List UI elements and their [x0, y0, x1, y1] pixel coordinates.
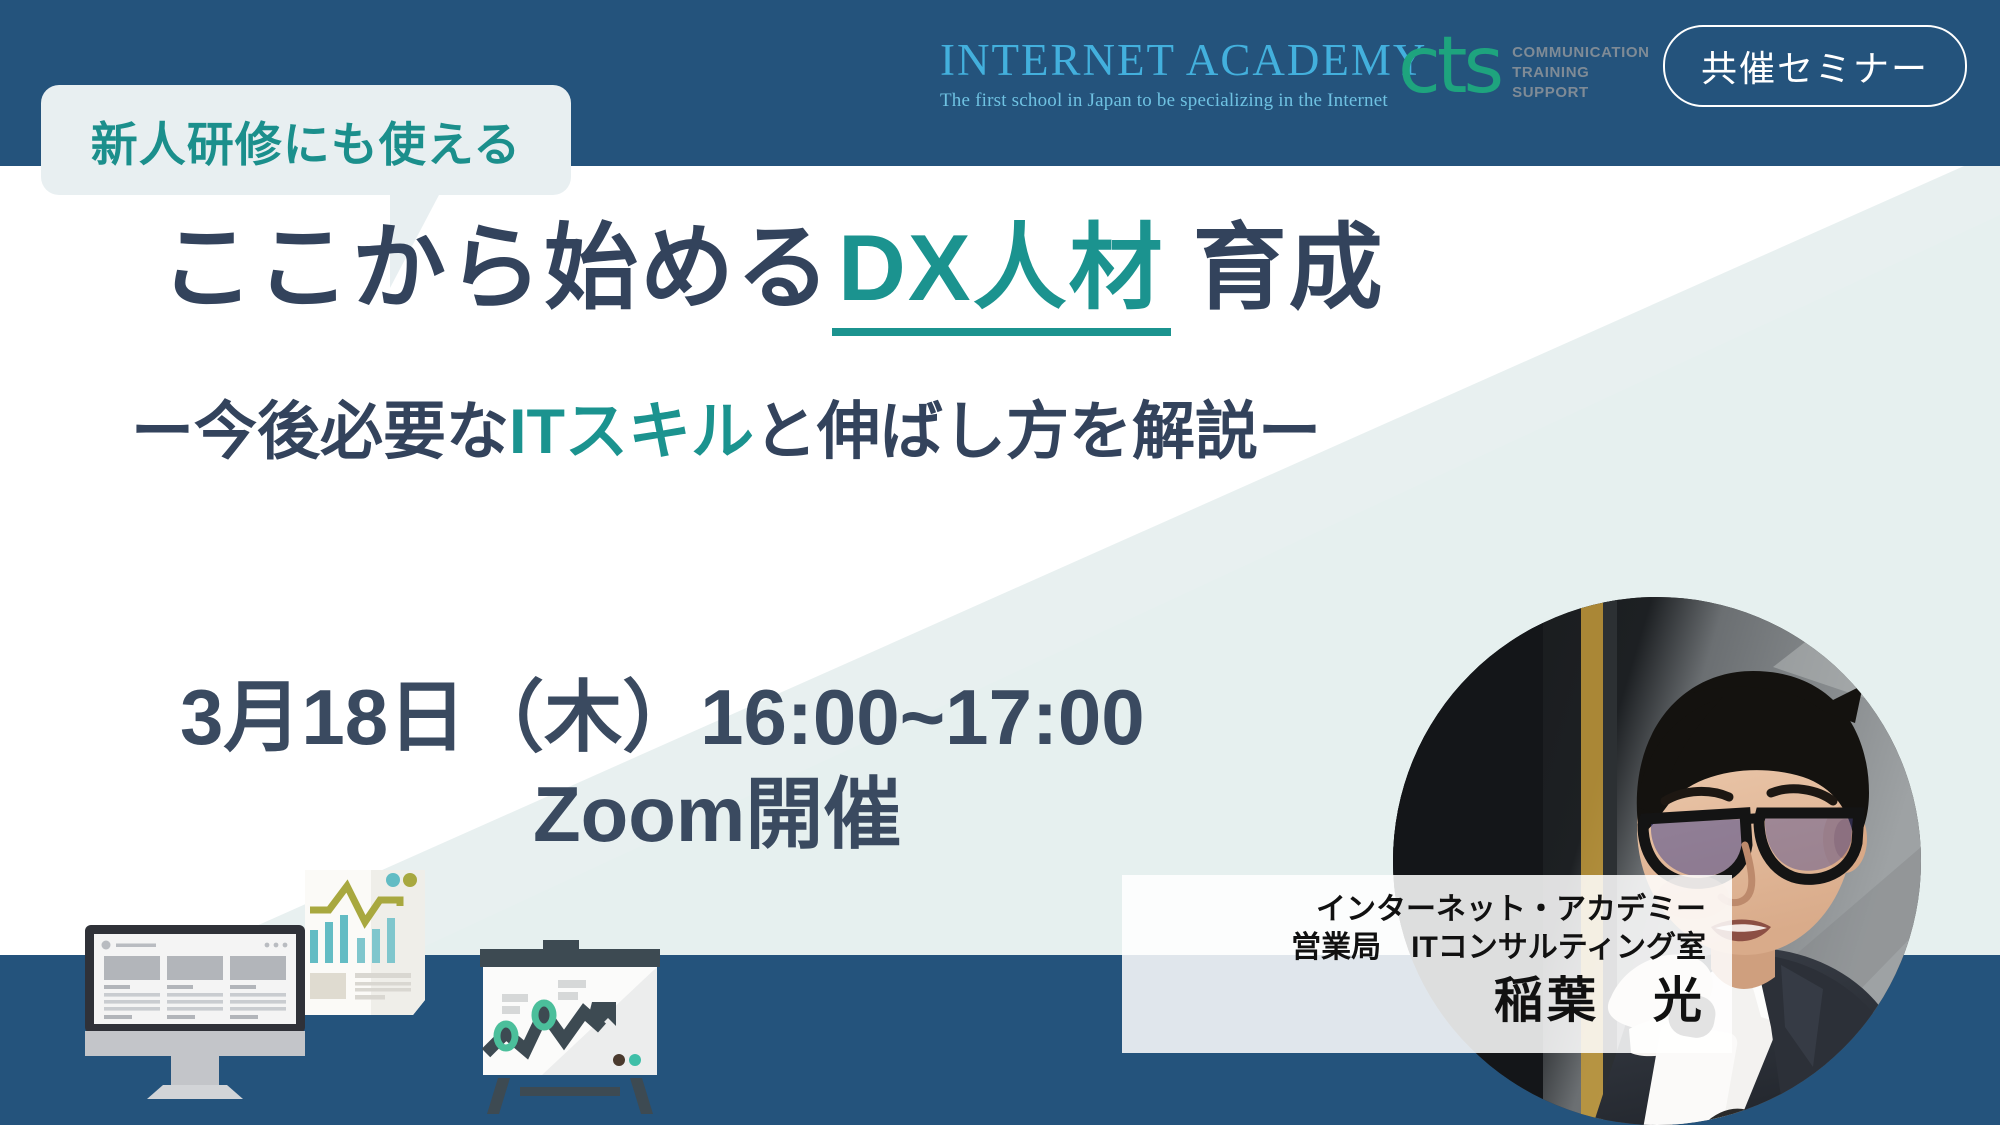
page-subtitle: ー今後必要なITスキルと伸ばし方を解説ー	[131, 381, 1321, 472]
seminar-banner: INTERNET ACADEMY The first school in Jap…	[0, 0, 2000, 1125]
internet-academy-name: INTERNET ACADEMY	[940, 38, 1370, 83]
seminar-datetime: 3月18日（木）16:00~17:00	[180, 655, 1145, 767]
cts-tagline: COMMUNICATION TRAINING SUPPORT	[1512, 32, 1650, 101]
speaker-name: 稲葉 光	[1122, 972, 1706, 1031]
subtitle-accent: ITスキル	[509, 397, 754, 467]
speaker-department: 営業局 ITコンサルティング室	[1122, 929, 1706, 967]
subtitle-tail: と伸ばし方を解説ー	[754, 397, 1321, 467]
cts-logo: cts COMMUNICATION TRAINING SUPPORT	[1398, 32, 1650, 101]
co-hosted-seminar-badge: 共催セミナー	[1663, 25, 1967, 107]
headline-accent: DX人材	[832, 215, 1171, 336]
headline-tail: 育成	[1193, 215, 1385, 320]
speaker-nameplate: インターネット・アカデミー 営業局 ITコンサルティング室 稲葉 光	[1122, 875, 1732, 1053]
internet-academy-tagline: The first school in Japan to be speciali…	[940, 90, 1370, 112]
cts-wordmark: cts	[1398, 32, 1500, 101]
presentation-board-icon	[480, 940, 660, 1120]
cts-tagline-line-3: SUPPORT	[1512, 84, 1650, 101]
speech-bubble: 新人研修にも使える	[41, 85, 571, 195]
co-hosted-seminar-badge-label: 共催セミナー	[1701, 40, 1929, 92]
seminar-platform: Zoom開催	[533, 752, 901, 864]
cts-tagline-line-2: TRAINING	[1512, 64, 1650, 81]
desktop-monitor-icon	[85, 925, 305, 1105]
subtitle-lead: ー今後必要な	[131, 397, 509, 467]
page-title: ここから始めるDX人材育成	[160, 216, 1385, 319]
internet-academy-logo: INTERNET ACADEMY The first school in Jap…	[940, 38, 1370, 112]
chart-document-icon	[305, 870, 425, 1020]
headline-lead: ここから始める	[160, 215, 832, 320]
speaker-company: インターネット・アカデミー	[1122, 891, 1706, 929]
cts-tagline-line-1: COMMUNICATION	[1512, 44, 1650, 61]
speech-bubble-text: 新人研修にも使える	[91, 106, 522, 175]
